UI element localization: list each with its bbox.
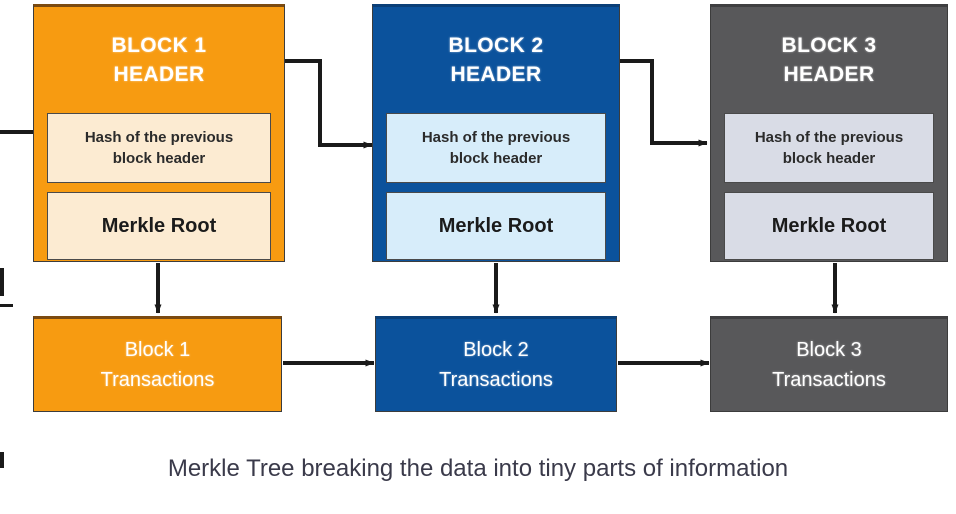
block-1-hash-field: Hash of the previous block header (47, 113, 271, 183)
block-header-3: BLOCK 3 HEADER Hash of the previous bloc… (710, 4, 948, 262)
diagram-caption: Merkle Tree breaking the data into tiny … (0, 455, 956, 483)
block-header-3-title: BLOCK 3 HEADER (711, 31, 947, 89)
block-3-merkle-field: Merkle Root (724, 192, 934, 260)
block-transactions-1-line2: Transactions (101, 365, 215, 395)
block-transactions-2-line2: Transactions (439, 365, 553, 395)
block-2-hash-line2: block header (422, 148, 570, 169)
block-1-hash-field-text: Hash of the previous block header (77, 127, 241, 169)
block-2-hash-line1: Hash of the previous (422, 127, 570, 148)
block-2-hash-field-text: Hash of the previous block header (414, 127, 578, 169)
block-transactions-3: Block 3 Transactions (710, 316, 948, 412)
page-edge-artifact-3 (0, 452, 4, 468)
block-header-1: BLOCK 1 HEADER Hash of the previous bloc… (33, 4, 285, 262)
block-transactions-1-line1: Block 1 (101, 335, 215, 365)
block-1-hash-line1: Hash of the previous (85, 127, 233, 148)
block-1-merkle-field: Merkle Root (47, 192, 271, 260)
block-transactions-2-text: Block 2 Transactions (439, 335, 553, 395)
block-transactions-2: Block 2 Transactions (375, 316, 617, 412)
block-2-hash-field: Hash of the previous block header (386, 113, 606, 183)
block-3-hash-line1: Hash of the previous (755, 127, 903, 148)
block-3-merkle-text: Merkle Root (772, 215, 886, 238)
block-3-hash-field-text: Hash of the previous block header (747, 127, 911, 169)
block-header-2-title-line1: BLOCK 2 (373, 31, 619, 60)
block-header-3-title-line1: BLOCK 3 (711, 31, 947, 60)
block-header-2-title: BLOCK 2 HEADER (373, 31, 619, 89)
block-3-hash-field: Hash of the previous block header (724, 113, 934, 183)
block-header-2-title-line2: HEADER (373, 60, 619, 89)
page-edge-artifact-1 (0, 268, 4, 296)
block-transactions-2-line1: Block 2 (439, 335, 553, 365)
block-2-merkle-field: Merkle Root (386, 192, 606, 260)
block-3-hash-line2: block header (755, 148, 903, 169)
block-header-2: BLOCK 2 HEADER Hash of the previous bloc… (372, 4, 620, 262)
block-transactions-3-line1: Block 3 (772, 335, 886, 365)
block-transactions-1-text: Block 1 Transactions (101, 335, 215, 395)
block-transactions-3-line2: Transactions (772, 365, 886, 395)
blockchain-diagram-canvas: BLOCK 1 HEADER Hash of the previous bloc… (0, 0, 956, 514)
block-transactions-3-text: Block 3 Transactions (772, 335, 886, 395)
block-2-merkle-text: Merkle Root (439, 215, 553, 238)
block-header-1-title-line2: HEADER (34, 60, 284, 89)
block-header-1-title-line1: BLOCK 1 (34, 31, 284, 60)
block-transactions-1: Block 1 Transactions (33, 316, 282, 412)
block-1-hash-line2: block header (85, 148, 233, 169)
block-header-3-title-line2: HEADER (711, 60, 947, 89)
page-edge-artifact-2 (0, 304, 13, 307)
block-1-merkle-text: Merkle Root (102, 215, 216, 238)
block-header-1-title: BLOCK 1 HEADER (34, 31, 284, 89)
